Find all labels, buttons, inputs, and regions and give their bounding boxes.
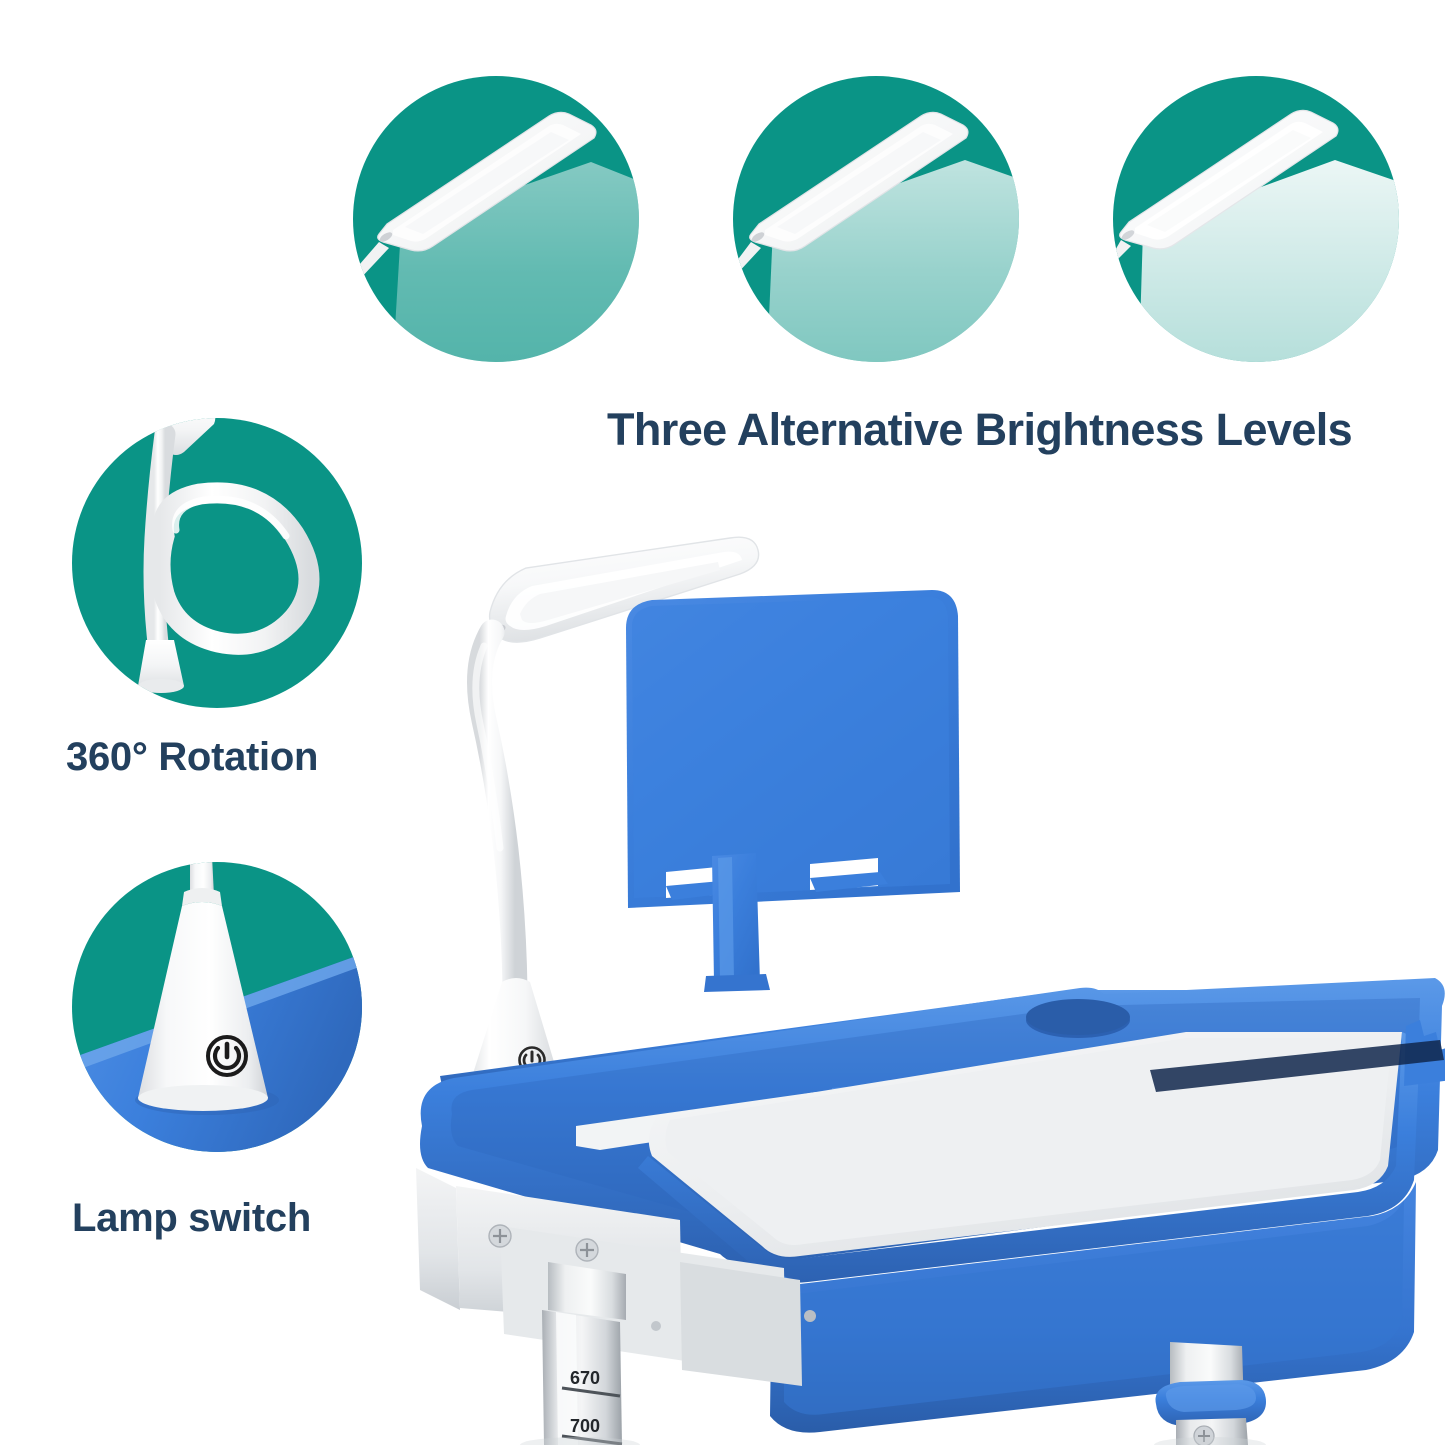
main-product-illustration: 670 700 [380,520,1445,1445]
lamp-beam-illustration-2 [733,76,1019,362]
lamp-switch-feature-label: Lamp switch [72,1196,311,1241]
brightness-level-3-circle [1113,76,1399,362]
bookstand [626,590,960,992]
brightness-heading: Three Alternative Brightness Levels [607,404,1352,456]
lamp-beam-illustration-3 [1113,76,1399,362]
lamp-beam-illustration-1 [353,76,639,362]
rotation-feature-label: 360° Rotation [66,735,318,780]
infographic-canvas: Three Alternative Brightness Levels [0,0,1445,1445]
gooseneck-loop-icon [72,418,362,708]
power-button-icon [208,1037,246,1075]
height-mark-670: 670 [570,1368,600,1388]
brightness-level-1-circle [353,76,639,362]
screw-icon [576,1239,598,1261]
lamp-switch-feature-circle [72,862,362,1152]
telescoping-leg-left: 670 700 [542,1310,622,1445]
rotation-feature-circle [72,418,362,708]
brightness-level-2-circle [733,76,1019,362]
power-button-illustration [72,862,362,1152]
height-mark-700: 700 [570,1416,600,1436]
screw-icon [489,1225,511,1247]
study-desk-svg: 670 700 [380,520,1445,1445]
